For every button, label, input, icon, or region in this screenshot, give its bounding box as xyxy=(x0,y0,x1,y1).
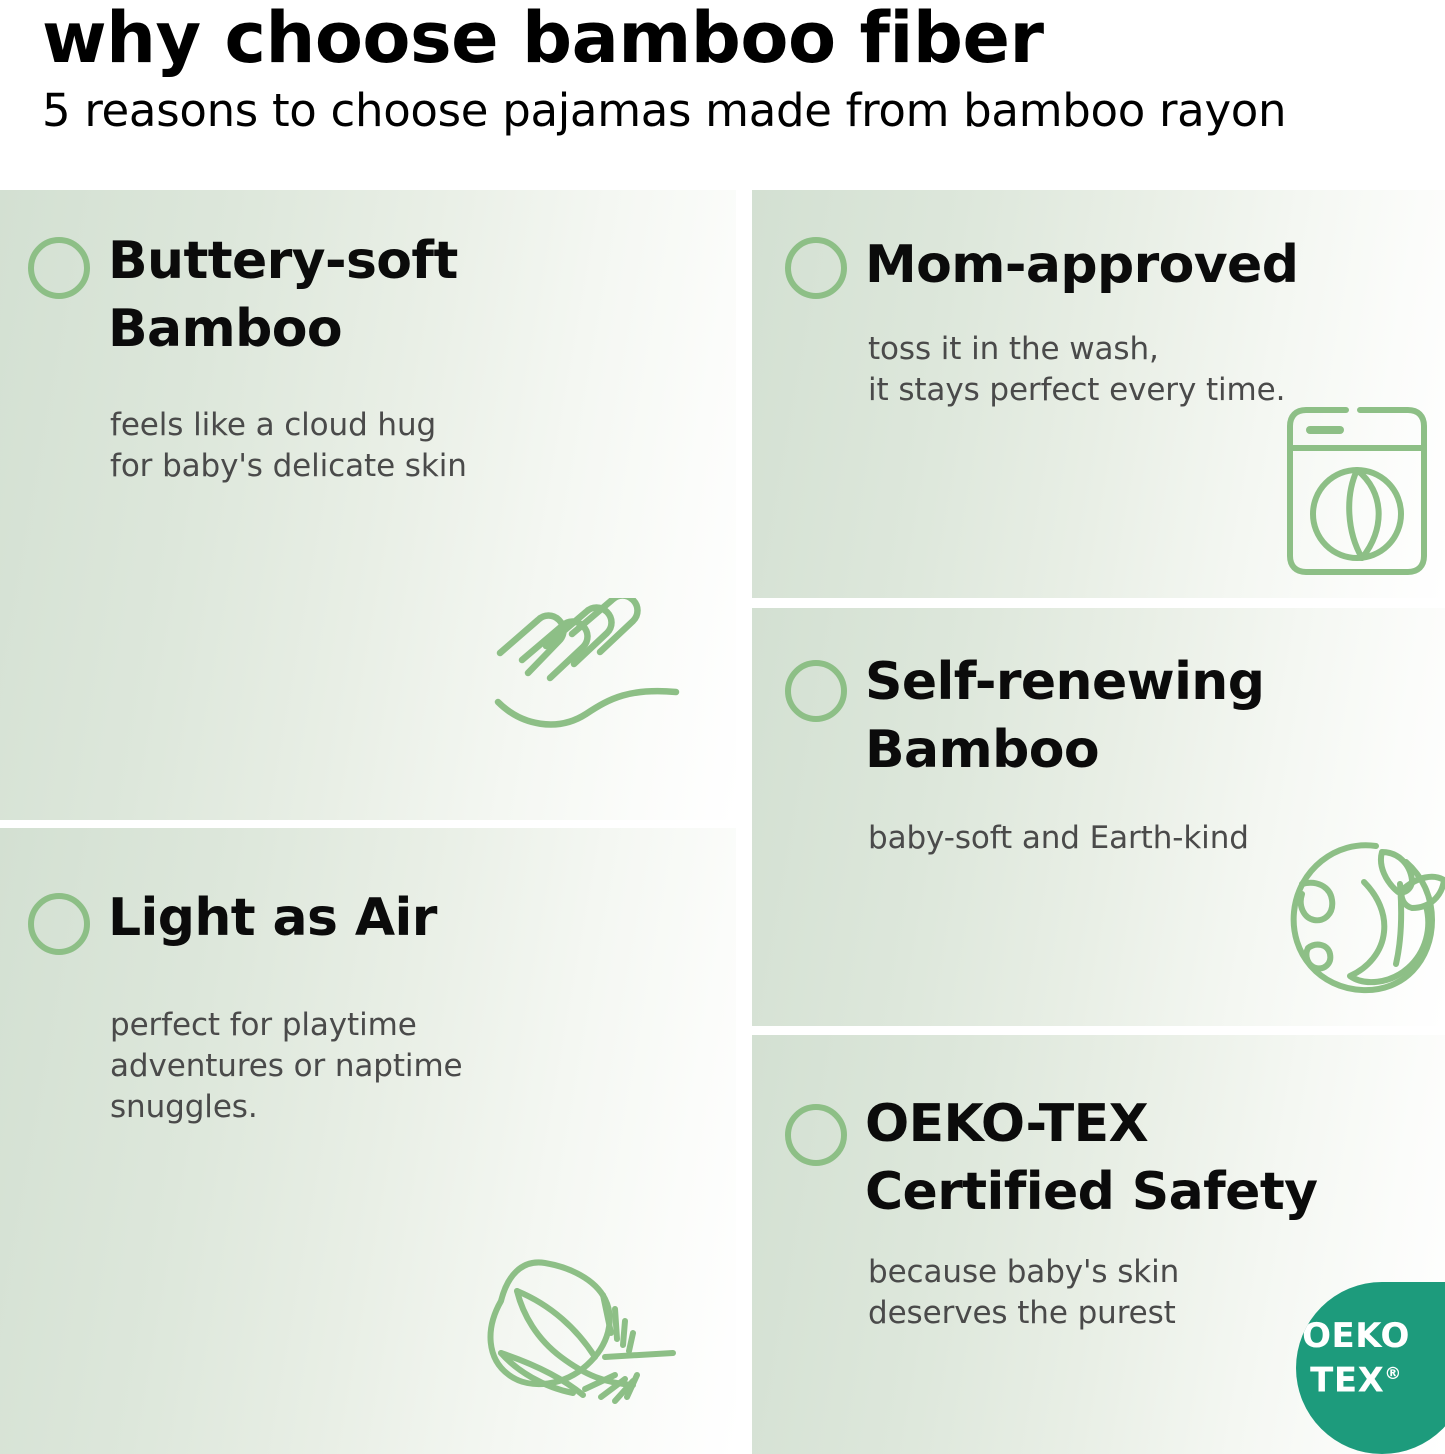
card-light-as-air: Light as Air perfect for playtime advent… xyxy=(0,828,736,1454)
card-mom-approved: Mom-approved toss it in the wash, it sta… xyxy=(752,190,1445,598)
card-title: OEKO-TEX Certified Safety xyxy=(865,1090,1317,1226)
page-subtitle: 5 reasons to choose pajamas made from ba… xyxy=(42,82,1286,140)
bullet-ring-icon xyxy=(785,1104,847,1166)
card-body: toss it in the wash, it stays perfect ev… xyxy=(868,329,1285,411)
badge-line-1: OEKO xyxy=(1296,1318,1416,1354)
card-body: perfect for playtime adventures or napti… xyxy=(110,1005,463,1128)
hand-soft-touch-icon xyxy=(480,598,700,758)
bullet-ring-icon xyxy=(28,893,90,955)
card-title: Mom-approved xyxy=(865,231,1298,299)
earth-leaf-icon xyxy=(1268,818,1445,996)
card-self-renewing-bamboo: Self-renewing Bamboo baby-soft and Earth… xyxy=(752,608,1445,1026)
badge-line-2: TEX® xyxy=(1296,1356,1416,1398)
card-body: because baby's skin deserves the purest xyxy=(868,1252,1179,1334)
bullet-ring-icon xyxy=(785,237,847,299)
washing-machine-icon xyxy=(1284,404,1430,578)
page-header: why choose bamboo fiber 5 reasons to cho… xyxy=(0,0,1445,190)
registered-mark: ® xyxy=(1384,1364,1402,1384)
card-buttery-soft-bamboo: Buttery-soft Bamboo feels like a cloud h… xyxy=(0,190,736,820)
badge-line-2-text: TEX xyxy=(1310,1360,1384,1400)
feather-icon xyxy=(465,1235,715,1450)
card-title: Light as Air xyxy=(108,884,437,952)
bullet-ring-icon xyxy=(28,237,90,299)
card-title: Self-renewing Bamboo xyxy=(865,648,1264,784)
bullet-ring-icon xyxy=(785,660,847,722)
page-title: why choose bamboo fiber xyxy=(42,0,1044,78)
card-title: Buttery-soft Bamboo xyxy=(108,227,458,363)
card-body: feels like a cloud hug for baby's delica… xyxy=(110,405,467,487)
card-body: baby-soft and Earth-kind xyxy=(868,818,1249,859)
